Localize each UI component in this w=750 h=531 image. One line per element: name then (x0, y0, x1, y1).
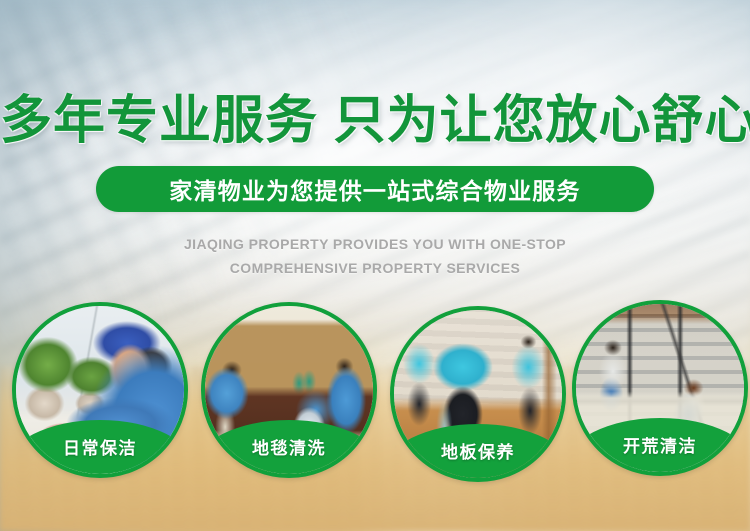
promo-banner: 多年专业服务 只为让您放心舒心 家清物业为您提供一站式综合物业服务 JIAQIN… (0, 0, 750, 531)
service-caption-daily-cleaning: 日常保洁 (63, 434, 137, 478)
service-circle-carpet-washing[interactable]: 地毯清洗 (201, 302, 377, 478)
service-circle-rough-cleaning[interactable]: 开荒清洁 (572, 300, 748, 476)
service-circle-daily-cleaning[interactable]: 日常保洁 (12, 302, 188, 478)
service-circle-row: 日常保洁 地毯清洗 地板保养 开荒清洁 (0, 0, 750, 531)
service-circle-floor-care[interactable]: 地板保养 (390, 306, 566, 482)
service-caption-carpet-washing: 地毯清洗 (252, 434, 326, 478)
service-caption-floor-care: 地板保养 (441, 438, 515, 482)
service-caption-rough-cleaning: 开荒清洁 (623, 432, 697, 476)
